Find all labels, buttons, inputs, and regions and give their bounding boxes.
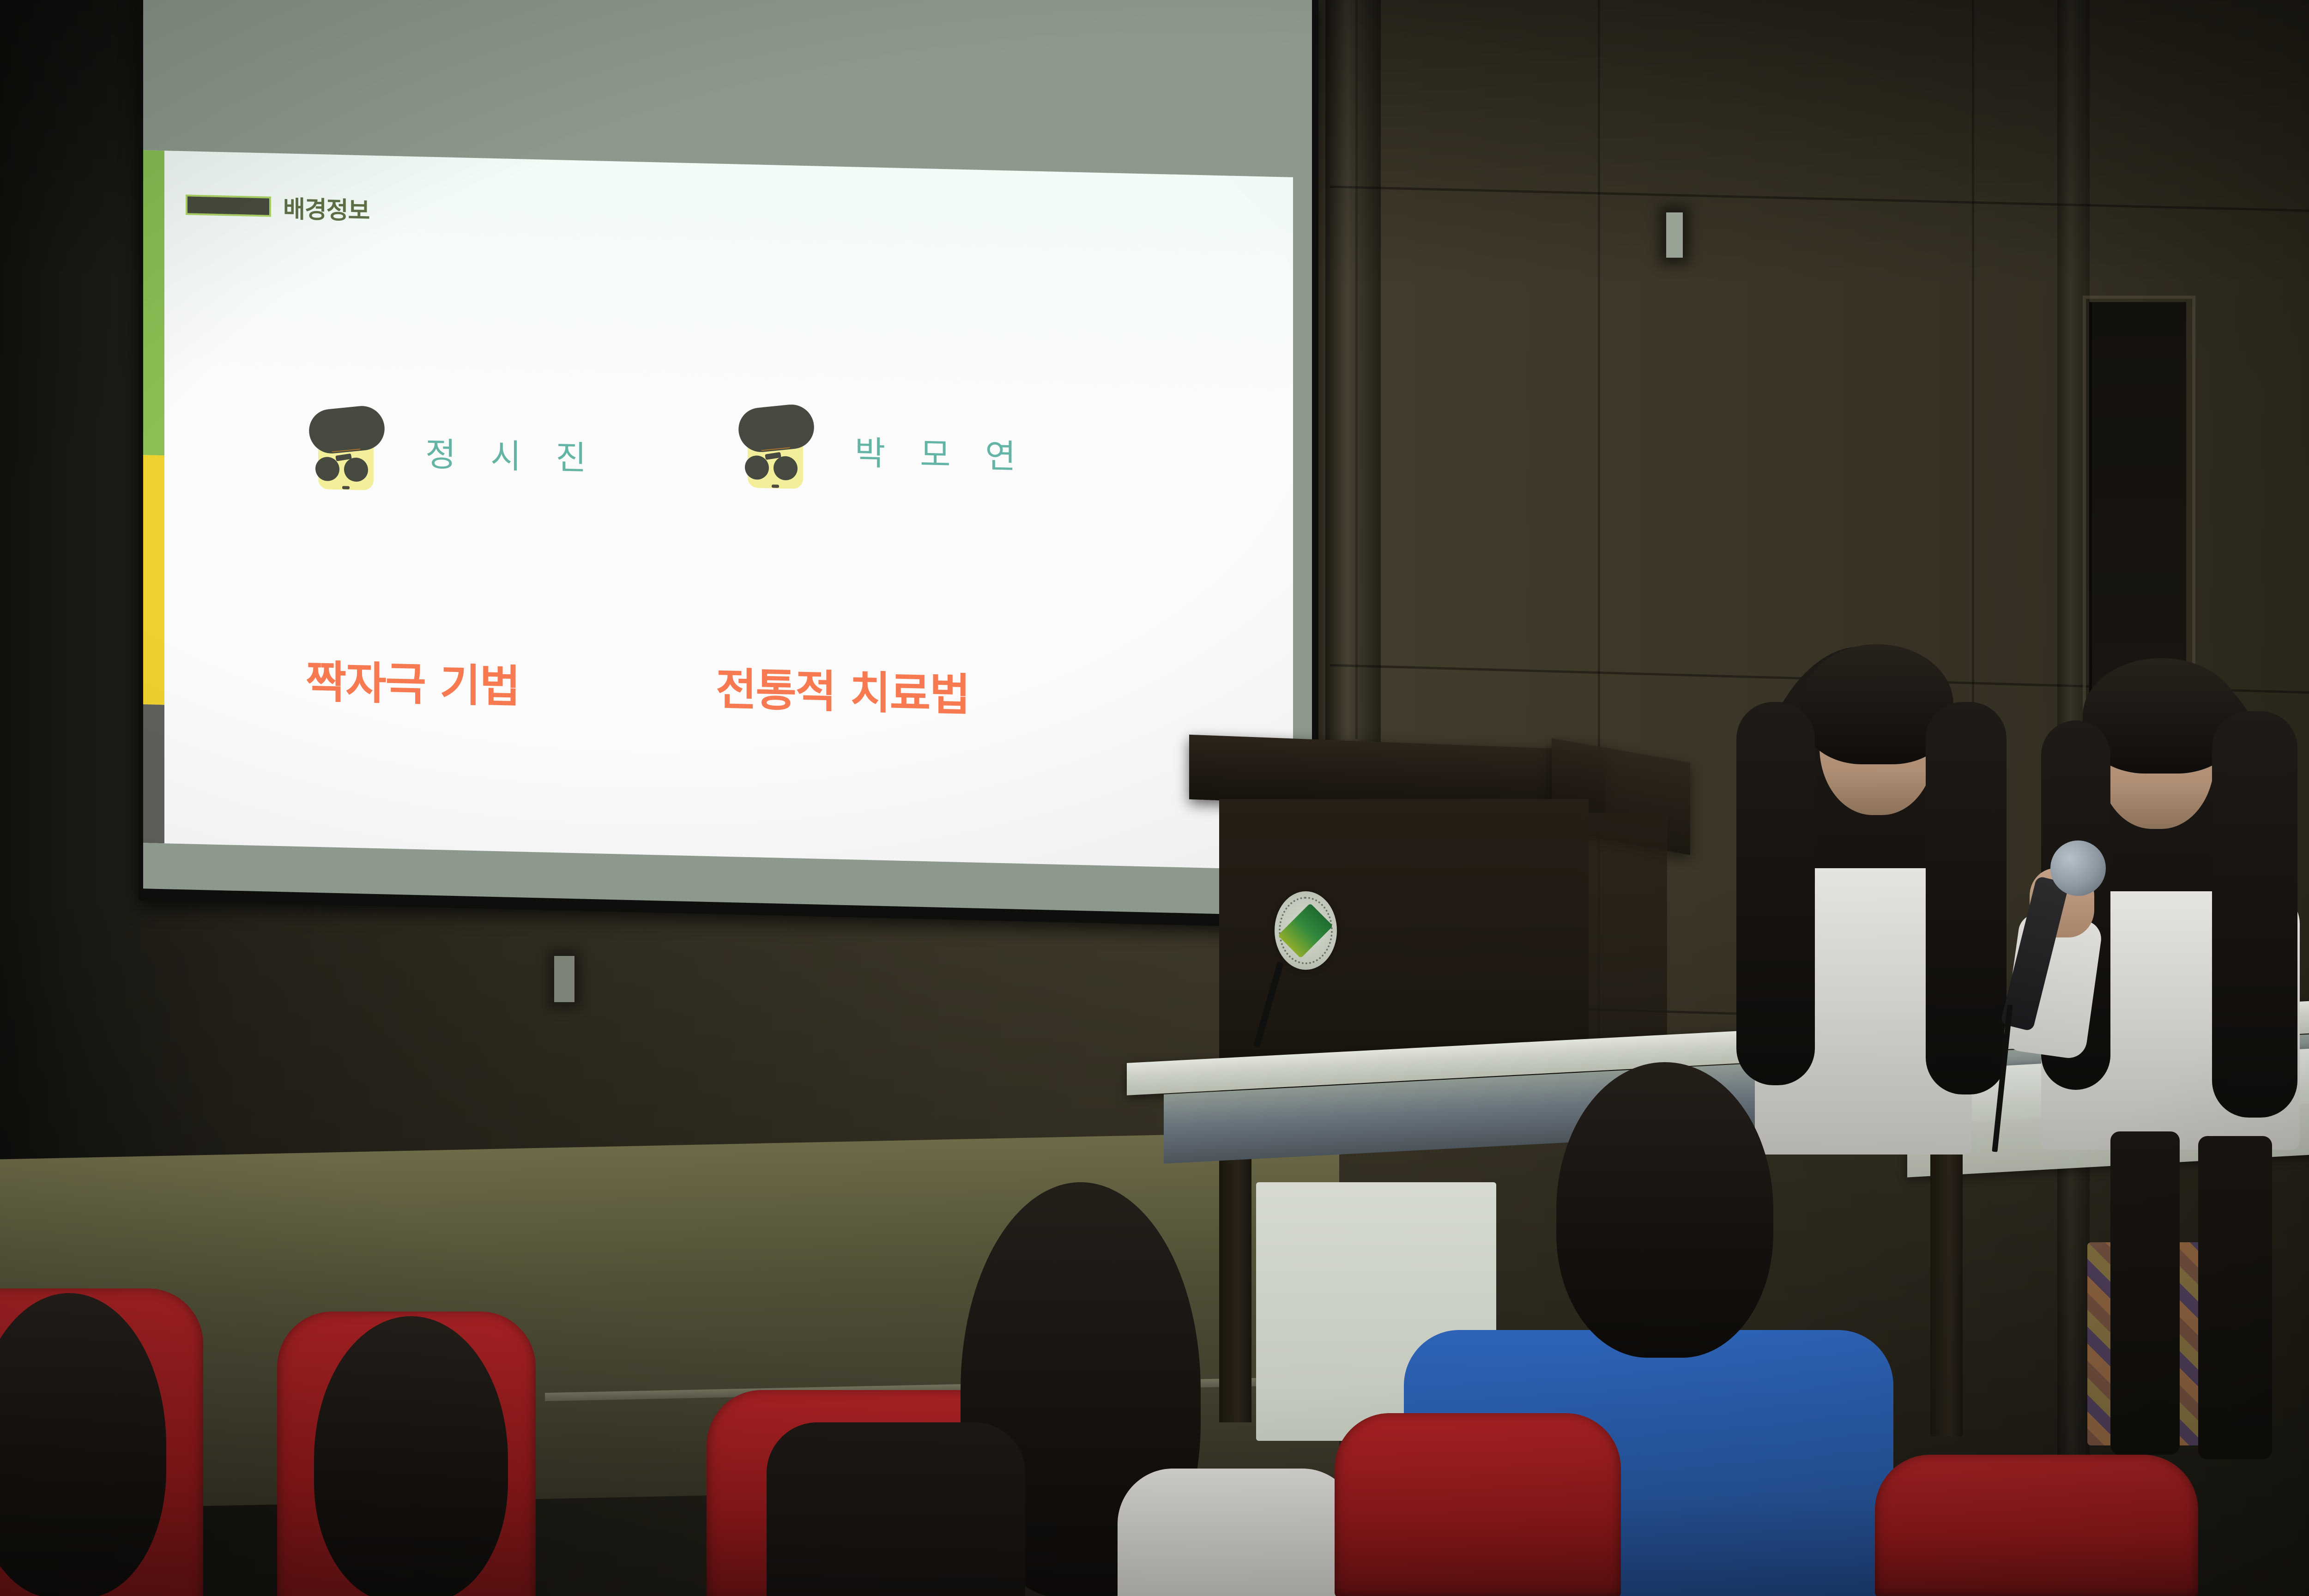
wall-outlet-plate[interactable] <box>554 956 574 1002</box>
presenter-left-hair-side <box>1736 702 1815 1085</box>
presentation-slide: 배경정보 정 시 진 <box>143 150 1293 870</box>
cartoon-face-avatar-icon <box>737 404 810 491</box>
avatar-eye-right <box>344 457 368 482</box>
auditorium-seat[interactable] <box>1335 1413 1621 1596</box>
accent-green-segment <box>143 150 164 455</box>
accent-dark-segment <box>143 704 164 843</box>
audience-member-4 <box>1556 1062 1773 1358</box>
desk-leg <box>1930 1141 1963 1436</box>
presenter-right-hair-side <box>2212 711 2297 1118</box>
accent-yellow-segment <box>143 455 164 705</box>
institution-seal-emblem-icon <box>1275 891 1337 970</box>
wall-pillar <box>1325 0 1381 794</box>
presenter-right-leg <box>2110 1131 2180 1455</box>
badge-bar-fill <box>187 196 269 215</box>
slide-accent-bar <box>143 150 164 843</box>
audience-member-3-shoulders <box>1118 1469 1358 1596</box>
slide-person-name-1: 정 시 진 <box>425 427 598 480</box>
presenter-right-leg <box>2198 1136 2272 1459</box>
slide-header: 배경정보 <box>186 187 369 226</box>
audience-member-2 <box>314 1316 508 1596</box>
cartoon-face-avatar-icon <box>307 405 381 493</box>
green-bar-badge-icon <box>186 194 271 217</box>
microphone-head <box>2050 840 2106 896</box>
auditorium-seat[interactable] <box>1875 1455 2198 1596</box>
projection-screen: 배경정보 정 시 진 <box>139 0 1318 928</box>
presenter-left-hair-side <box>1926 702 2007 1094</box>
auditorium-seat-dark[interactable] <box>767 1422 1025 1596</box>
slide-person-row-1: 정 시 진 <box>307 405 598 498</box>
slide-person-row-2: 박 모 연 <box>737 404 1028 496</box>
slide-header-title: 배경정보 <box>283 189 369 226</box>
avatar-eye-right <box>774 456 798 480</box>
photo-scene: 배경정보 정 시 진 <box>0 0 2309 1596</box>
slide-person-name-2: 박 모 연 <box>855 425 1028 478</box>
screen-surface: 배경정보 정 시 진 <box>143 0 1312 916</box>
avatar-mouth <box>772 484 779 488</box>
slide-topic-2: 전통적 치료법 <box>716 653 969 723</box>
avatar-mouth <box>342 486 350 489</box>
slide-topic-1: 짝자극 기법 <box>306 646 520 715</box>
wall-switch-plate[interactable] <box>1666 212 1683 258</box>
